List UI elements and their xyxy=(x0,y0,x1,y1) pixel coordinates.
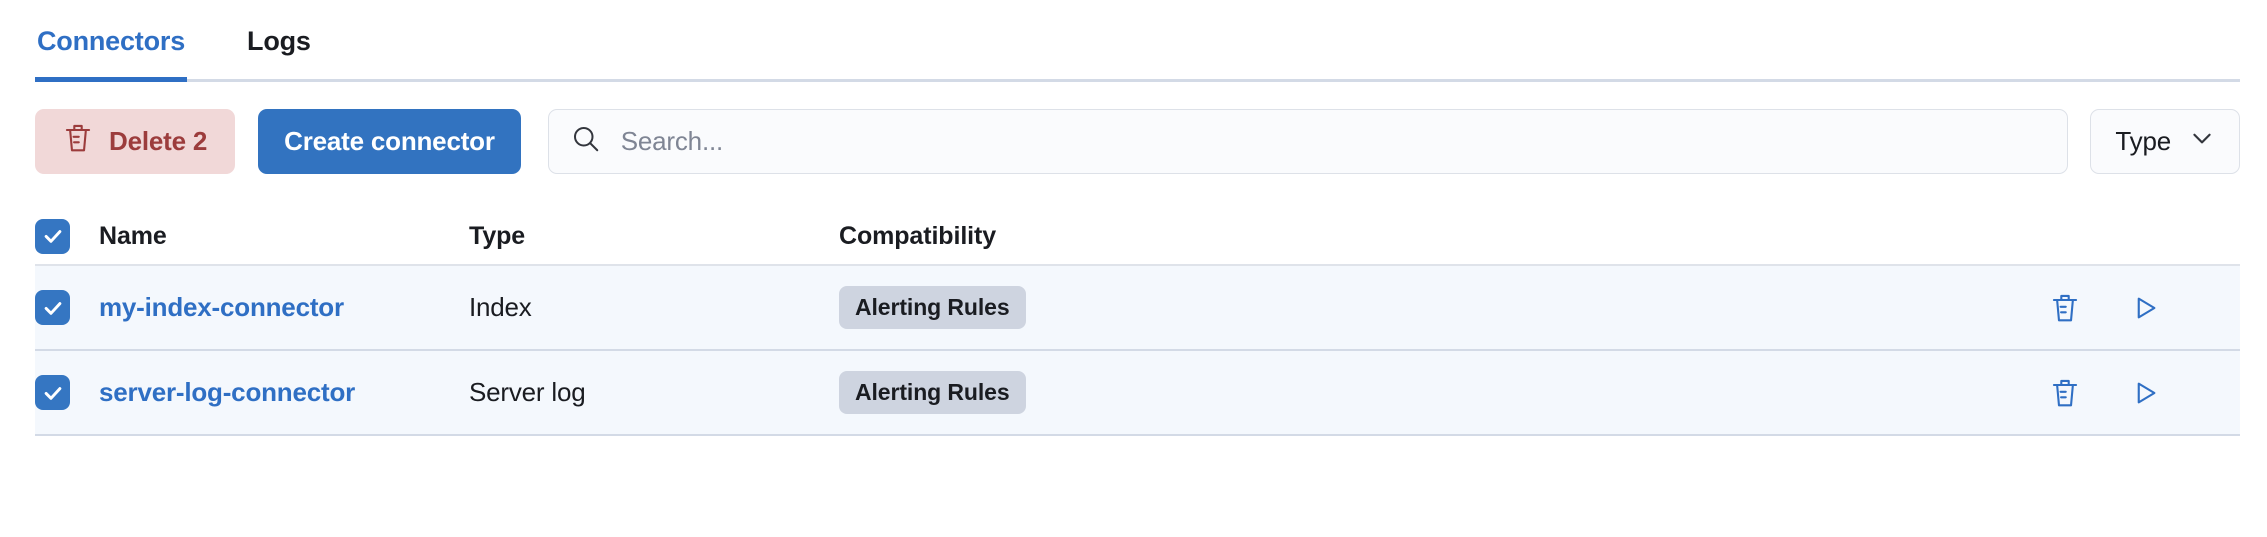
table-row[interactable]: server-log-connector Server log Alerting… xyxy=(35,351,2240,436)
row-compatibility-cell: Alerting Rules xyxy=(839,371,2040,414)
row-name-cell: my-index-connector xyxy=(99,292,469,323)
row-checkbox[interactable] xyxy=(35,375,70,410)
select-all-checkbox[interactable] xyxy=(35,219,70,254)
row-actions-cell xyxy=(2040,292,2240,324)
run-icon xyxy=(2130,293,2160,323)
delete-button[interactable]: Delete 2 xyxy=(35,109,235,174)
run-icon xyxy=(2130,378,2160,408)
row-compatibility-cell: Alerting Rules xyxy=(839,286,2040,329)
tab-active-indicator xyxy=(35,77,187,82)
column-header-type[interactable]: Type xyxy=(469,222,839,251)
column-header-compatibility[interactable]: Compatibility xyxy=(839,222,2040,251)
create-connector-label: Create connector xyxy=(284,126,495,157)
search-input[interactable] xyxy=(619,125,2046,158)
tab-bar-divider xyxy=(35,79,2240,82)
connectors-table: Name Type Compatibility my-index-connect… xyxy=(35,208,2240,436)
row-type-cell: Index xyxy=(469,292,839,323)
toolbar: Delete 2 Create connector Type xyxy=(0,82,2267,178)
row-run-button[interactable] xyxy=(2130,378,2160,408)
create-connector-button[interactable]: Create connector xyxy=(258,109,521,174)
search-box[interactable] xyxy=(548,109,2069,174)
tab-logs-label: Logs xyxy=(247,26,311,57)
type-filter-dropdown[interactable]: Type xyxy=(2090,109,2240,174)
connector-name-link[interactable]: server-log-connector xyxy=(99,377,355,407)
row-select-cell xyxy=(35,290,99,325)
trash-icon xyxy=(2050,377,2080,409)
row-delete-button[interactable] xyxy=(2050,377,2080,409)
trash-icon xyxy=(63,122,93,161)
row-name-cell: server-log-connector xyxy=(99,377,469,408)
tab-logs[interactable]: Logs xyxy=(245,0,313,82)
column-header-name[interactable]: Name xyxy=(99,222,469,251)
row-checkbox[interactable] xyxy=(35,290,70,325)
row-type-cell: Server log xyxy=(469,377,839,408)
trash-icon xyxy=(2050,292,2080,324)
row-actions-cell xyxy=(2040,377,2240,409)
row-run-button[interactable] xyxy=(2130,293,2160,323)
row-select-cell xyxy=(35,375,99,410)
compatibility-badge: Alerting Rules xyxy=(839,371,1026,414)
tab-connectors-label: Connectors xyxy=(37,26,185,57)
type-filter-label: Type xyxy=(2115,126,2171,157)
search-icon xyxy=(571,124,601,159)
chevron-down-icon xyxy=(2189,125,2215,158)
tab-connectors[interactable]: Connectors xyxy=(35,0,187,82)
select-all-cell xyxy=(35,219,99,254)
tab-bar: Connectors Logs xyxy=(0,0,2267,82)
table-header-row: Name Type Compatibility xyxy=(35,208,2240,266)
row-delete-button[interactable] xyxy=(2050,292,2080,324)
table-row[interactable]: my-index-connector Index Alerting Rules xyxy=(35,266,2240,351)
compatibility-badge: Alerting Rules xyxy=(839,286,1026,329)
connector-name-link[interactable]: my-index-connector xyxy=(99,292,344,322)
delete-button-label: Delete 2 xyxy=(109,126,207,157)
